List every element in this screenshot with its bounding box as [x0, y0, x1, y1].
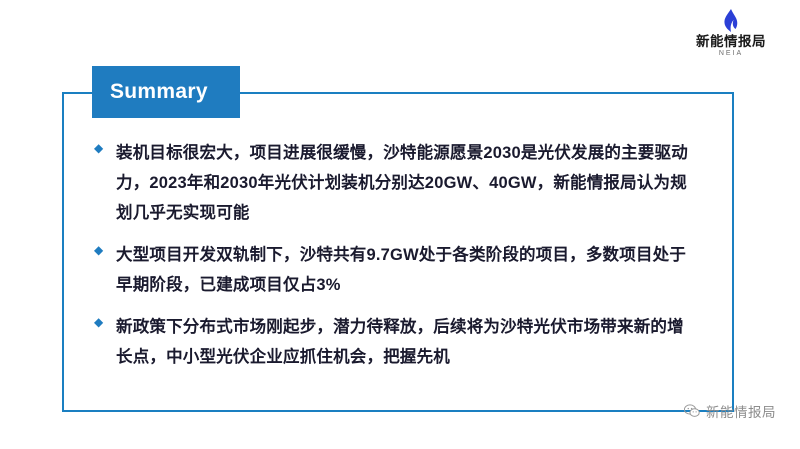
summary-bullet-list: ◆ 装机目标很宏大，项目进展很缓慢，沙特能源愿景2030是光伏发展的主要驱动力，… — [94, 138, 694, 384]
list-item: ◆ 大型项目开发双轨制下，沙特共有9.7GW处于各类阶段的项目，多数项目处于早期… — [94, 240, 694, 300]
list-item: ◆ 新政策下分布式市场刚起步，潜力待释放，后续将为沙特光伏市场带来新的增长点，中… — [94, 312, 694, 372]
summary-tab-title: Summary — [92, 66, 240, 118]
bullet-text: 新政策下分布式市场刚起步，潜力待释放，后续将为沙特光伏市场带来新的增长点，中小型… — [116, 312, 694, 372]
watermark: 新能情报局 — [684, 401, 776, 421]
bullet-text: 装机目标很宏大，项目进展很缓慢，沙特能源愿景2030是光伏发展的主要驱动力，20… — [116, 138, 694, 228]
slide-canvas: 新能情报局 NEIA Summary ◆ 装机目标很宏大，项目进展很缓慢，沙特能… — [0, 0, 800, 449]
logo-subtitle: NEIA — [676, 49, 786, 59]
watermark-text: 新能情报局 — [706, 401, 776, 421]
diamond-bullet-icon: ◆ — [94, 138, 116, 154]
bullet-text: 大型项目开发双轨制下，沙特共有9.7GW处于各类阶段的项目，多数项目处于早期阶段… — [116, 240, 694, 300]
logo-name: 新能情报局 — [676, 34, 786, 49]
list-item: ◆ 装机目标很宏大，项目进展很缓慢，沙特能源愿景2030是光伏发展的主要驱动力，… — [94, 138, 694, 228]
flame-leaf-icon — [676, 8, 786, 34]
diamond-bullet-icon: ◆ — [94, 312, 116, 328]
wechat-icon — [684, 404, 700, 418]
diamond-bullet-icon: ◆ — [94, 240, 116, 256]
brand-logo: 新能情报局 NEIA — [676, 8, 786, 64]
